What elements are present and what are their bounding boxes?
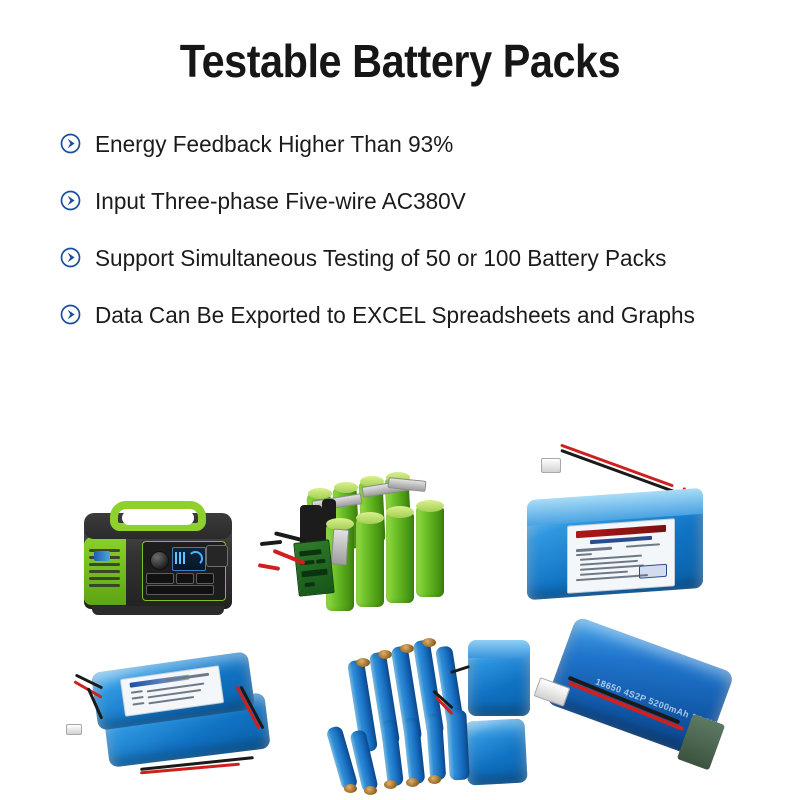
circled-chevron-right-icon: [60, 190, 81, 211]
page-title: Testable Battery Packs: [40, 34, 760, 88]
product-feature-page: Testable Battery Packs Energy Feedback H…: [0, 0, 800, 800]
photo-portable-power-station: [70, 475, 250, 625]
battery-spec-label: [567, 518, 675, 594]
photo-loose-blue-cells-and-packs: [332, 638, 532, 790]
circled-chevron-right-icon: [60, 304, 81, 325]
photo-blue-printed-battery-pack: 18650 4S2P 5200mAh 14.8V: [534, 620, 754, 790]
feature-item: Support Simultaneous Testing of 50 or 10…: [60, 242, 776, 274]
feature-label: Support Simultaneous Testing of 50 or 10…: [95, 242, 666, 274]
feature-list: Energy Feedback Higher Than 93% Input Th…: [60, 128, 776, 331]
circled-chevron-right-icon: [60, 247, 81, 268]
feature-item: Energy Feedback Higher Than 93%: [60, 128, 776, 160]
feature-label: Input Three-phase Five-wire AC380V: [95, 185, 466, 217]
photo-blue-labelled-battery-pack: [515, 450, 725, 620]
circled-chevron-right-icon: [60, 133, 81, 154]
feature-item: Input Three-phase Five-wire AC380V: [60, 185, 776, 217]
photo-green-cell-battery-pack: [288, 475, 478, 635]
feature-label: Data Can Be Exported to EXCEL Spreadshee…: [95, 299, 695, 331]
product-gallery: 18650 4S2P 5200mAh 14.8V: [0, 440, 800, 800]
feature-label: Energy Feedback Higher Than 93%: [95, 128, 453, 160]
feature-item: Data Can Be Exported to EXCEL Spreadshee…: [60, 299, 776, 331]
photo-stacked-blue-battery-packs: [78, 640, 278, 780]
